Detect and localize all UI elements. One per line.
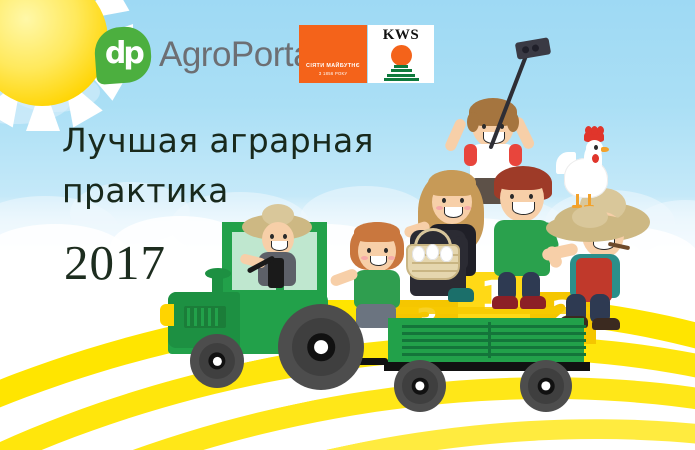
kws-wordmark: KWS (383, 27, 420, 44)
logo-wordmark: AgroPortal (159, 35, 319, 75)
tractor-seat (268, 258, 284, 288)
tractor-front-wheel (190, 334, 244, 388)
sponsor-orange-line2: З 1856 РОКУ (319, 71, 348, 76)
headline-line-2: практика (62, 166, 382, 216)
camera-lens-icon (531, 44, 539, 52)
kws-field-icon (384, 63, 419, 81)
camera-lens-icon (522, 46, 530, 54)
egg (440, 246, 453, 262)
trailer (380, 318, 590, 410)
agroportal-logo[interactable]: dp AgroPortal (95, 27, 319, 83)
tractor-exhaust-cap (205, 268, 231, 279)
trailer-wheel (394, 360, 446, 412)
rooster (556, 128, 618, 216)
rooster-beak-icon (601, 147, 609, 152)
headline: Лучшая аграрная практика (62, 116, 382, 216)
leaf-logo-icon: dp (93, 25, 153, 85)
trailer-wheel (520, 360, 572, 412)
rooster-wattle (592, 154, 599, 163)
sponsor-orange-line1: СІЯТИ МАЙБУТНЄ (306, 63, 360, 69)
tractor (150, 222, 390, 402)
logo-monogram: dp (104, 39, 141, 69)
sponsor-orange-logo[interactable]: СІЯТИ МАЙБУТНЄ З 1856 РОКУ (299, 25, 367, 83)
tractor-grill (184, 306, 226, 328)
headline-line-1: Лучшая аграрная (62, 116, 382, 166)
egg (426, 244, 439, 260)
sponsor-kws-logo[interactable]: KWS (368, 25, 434, 83)
poster-canvas: dp AgroPortal СІЯТИ МАЙБУТНЄ З 1856 РОКУ… (0, 0, 695, 450)
straw-hat-prop (546, 206, 632, 242)
trailer-box (388, 318, 584, 362)
tractor-rear-wheel (278, 304, 364, 390)
tractor-headlight-icon (160, 304, 174, 326)
